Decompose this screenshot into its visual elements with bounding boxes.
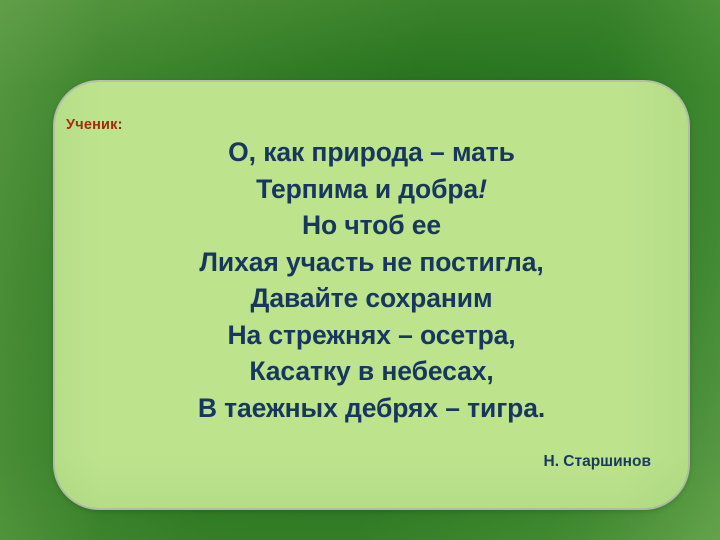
- poem-line-5: Давайте сохраним: [55, 280, 688, 317]
- poem-line-2-text: Терпима и добра: [256, 174, 478, 204]
- poem-line-7: Касатку в небесах,: [55, 353, 688, 390]
- poem-attribution: Н. Старшинов: [544, 453, 652, 471]
- poem-line-4: Лихая участь не постигла,: [55, 244, 688, 281]
- poem-line-8: В таежных дебрях – тигра.: [55, 390, 688, 427]
- poem-line-2: Терпима и добра!: [55, 171, 688, 208]
- speaker-name: Ученик: [66, 117, 118, 133]
- poem-line-2-exclamation: !: [478, 174, 487, 204]
- speaker-colon: :: [118, 117, 123, 133]
- speaker-label: Ученик:: [66, 117, 123, 133]
- content-card: Ученик: О, как природа – мать Терпима и …: [53, 80, 690, 510]
- poem-line-1: О, как природа – мать: [55, 134, 688, 171]
- poem-line-3: Но чтоб ее: [55, 207, 688, 244]
- slide-canvas: Ученик: О, как природа – мать Терпима и …: [0, 0, 720, 540]
- poem-body: О, как природа – мать Терпима и добра! Н…: [55, 134, 688, 426]
- poem-line-6: На стрежнях – осетра,: [55, 317, 688, 354]
